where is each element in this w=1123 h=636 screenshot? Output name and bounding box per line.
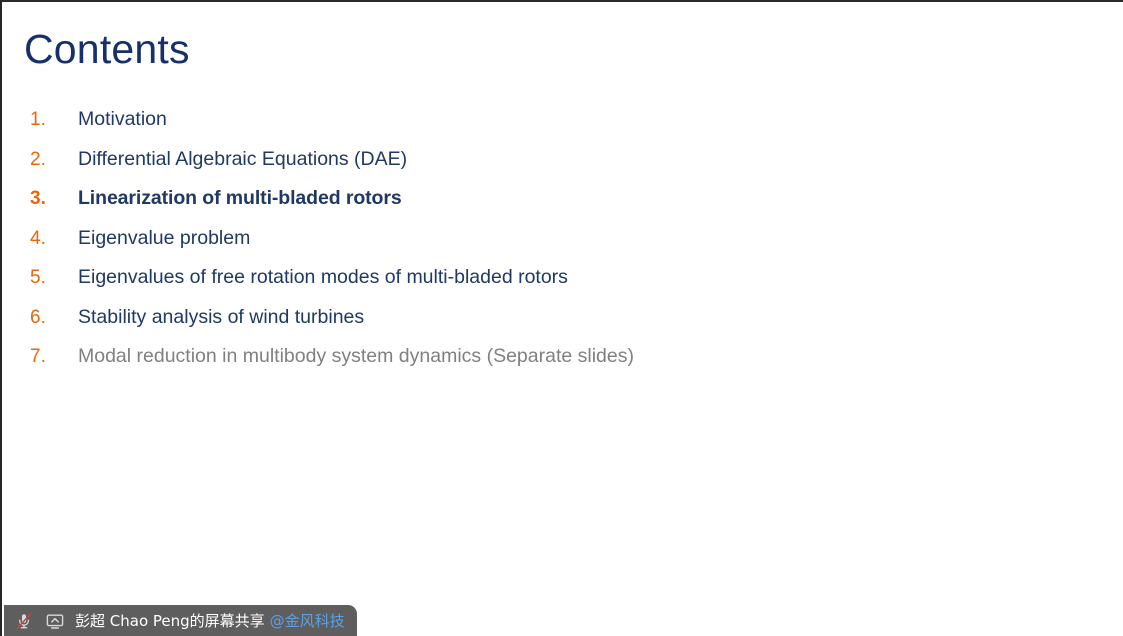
list-item-number: 3. xyxy=(30,186,78,212)
list-item-label: Linearization of multi-bladed rotors xyxy=(78,185,402,211)
contents-list: 1. Motivation 2. Differential Algebraic … xyxy=(30,106,1070,383)
list-item-current[interactable]: 3. Linearization of multi-bladed rotors xyxy=(30,185,1070,225)
list-item-number: 4. xyxy=(30,226,78,252)
share-organization-label: @金风科技 xyxy=(270,611,345,631)
list-item[interactable]: 4. Eigenvalue problem xyxy=(30,225,1070,265)
list-item-label: Motivation xyxy=(78,106,167,132)
list-item-dimmed[interactable]: 7. Modal reduction in multibody system d… xyxy=(30,343,1070,383)
list-item[interactable]: 5. Eigenvalues of free rotation modes of… xyxy=(30,264,1070,304)
list-item-label: Stability analysis of wind turbines xyxy=(78,304,364,330)
list-item-label: Differential Algebraic Equations (DAE) xyxy=(78,146,407,172)
list-item-label: Eigenvalue problem xyxy=(78,225,250,251)
screen-share-status-bar: 彭超 Chao Peng的屏幕共享 @金风科技 xyxy=(4,605,357,636)
microphone-muted-icon[interactable] xyxy=(13,610,35,632)
list-item-number: 7. xyxy=(30,344,78,370)
list-item-label: Eigenvalues of free rotation modes of mu… xyxy=(78,264,568,290)
list-item-label: Modal reduction in multibody system dyna… xyxy=(78,343,634,369)
list-item-number: 5. xyxy=(30,265,78,291)
list-item-number: 6. xyxy=(30,305,78,331)
page-title: Contents xyxy=(24,24,190,74)
presentation-slide: Contents 1. Motivation 2. Differential A… xyxy=(0,0,1123,636)
screen-share-icon[interactable] xyxy=(44,610,66,632)
list-item[interactable]: 1. Motivation xyxy=(30,106,1070,146)
list-item[interactable]: 2. Differential Algebraic Equations (DAE… xyxy=(30,146,1070,186)
share-presenter-label: 彭超 Chao Peng的屏幕共享 xyxy=(75,611,265,631)
list-item-number: 2. xyxy=(30,147,78,173)
list-item[interactable]: 6. Stability analysis of wind turbines xyxy=(30,304,1070,344)
list-item-number: 1. xyxy=(30,107,78,133)
